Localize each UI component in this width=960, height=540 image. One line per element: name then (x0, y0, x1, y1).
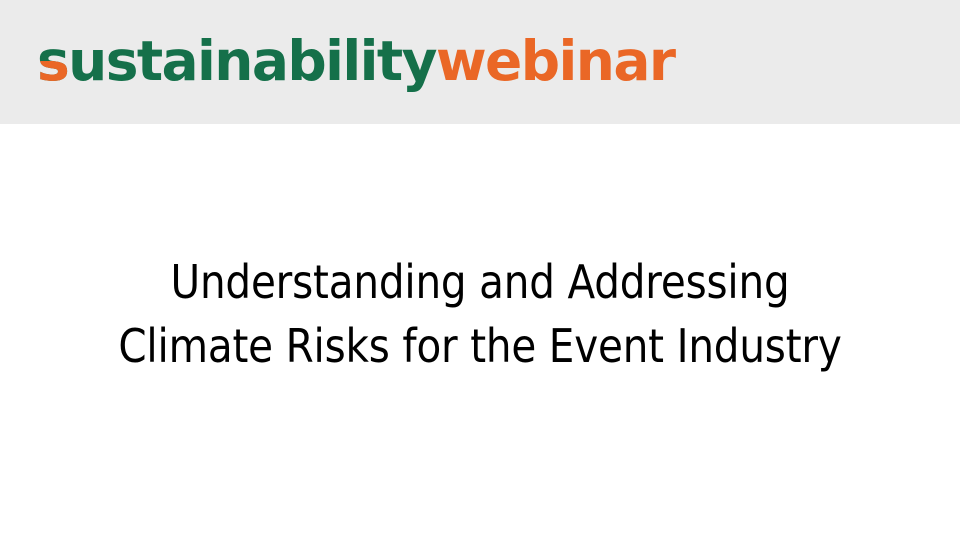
logo-word-webinar: webinar (436, 30, 675, 92)
logo-word-sustainability: ustainability (68, 30, 436, 92)
header-band: ssustainabilitywebinar (0, 0, 960, 124)
title-slide: ssustainabilitywebinar Understanding and… (0, 0, 960, 540)
page-title-line-1: Understanding and Addressing (58, 250, 903, 314)
logo-lead-s-green: s (37, 29, 68, 93)
logo-lead-s-two-tone: ss (37, 30, 68, 92)
page-title: Understanding and Addressing Climate Ris… (58, 250, 903, 378)
sustainability-webinar-logo: ssustainabilitywebinar (37, 30, 674, 92)
page-title-line-2: Climate Risks for the Event Industry (58, 314, 903, 378)
